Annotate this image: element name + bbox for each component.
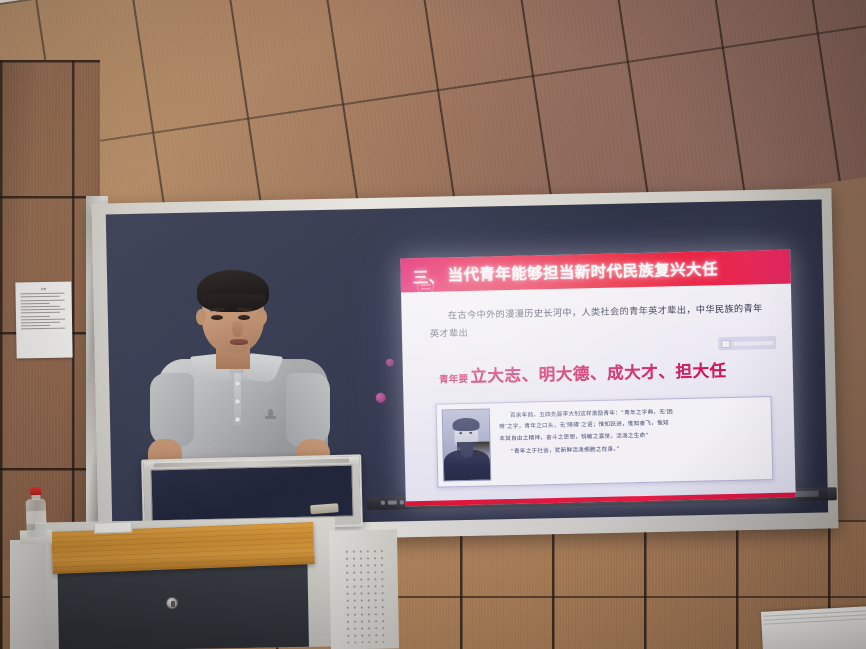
notice-line bbox=[21, 306, 60, 308]
notice-line bbox=[21, 303, 50, 304]
presenter-mouth bbox=[230, 339, 248, 345]
presenter-eye bbox=[211, 315, 223, 320]
quote-text-block: 百余年前，五四先驱李大钊这样激励青年：“青年之字典，无‘困 难’之字，青年之口头… bbox=[490, 402, 768, 480]
presenter-sleeve-left bbox=[150, 373, 194, 447]
bottle-cap bbox=[30, 487, 41, 495]
notice-line bbox=[21, 315, 50, 316]
magnet-dot bbox=[386, 358, 394, 366]
lecture-hall-photo: 公告 三、 当代青年能够担当新时代民族复兴大 bbox=[0, 0, 866, 649]
magnet-dot bbox=[376, 393, 386, 403]
presenter-eyebrow bbox=[237, 308, 252, 312]
presenter-eye bbox=[238, 315, 250, 320]
notice-title: 公告 bbox=[20, 287, 66, 292]
speaker-perforations bbox=[343, 548, 389, 644]
paper-stack bbox=[761, 606, 866, 649]
lectern-lock-icon[interactable] bbox=[166, 597, 178, 609]
notice-line bbox=[21, 296, 60, 298]
notice-line bbox=[21, 293, 65, 295]
watermark-icon bbox=[721, 339, 730, 347]
shirt-button bbox=[235, 381, 240, 386]
shirt-button bbox=[235, 399, 240, 404]
presenter-sleeve-right bbox=[286, 373, 330, 447]
shirt-logo-icon bbox=[264, 409, 277, 423]
presenter-ear bbox=[196, 309, 206, 325]
notice-line bbox=[21, 325, 50, 326]
portrait-eye bbox=[459, 432, 462, 434]
notice-line bbox=[21, 312, 60, 314]
watermark-text bbox=[733, 341, 773, 346]
presenter-nose bbox=[232, 321, 243, 337]
presenter-ear bbox=[257, 309, 267, 325]
notice-line bbox=[21, 309, 65, 311]
portrait-hair bbox=[452, 418, 479, 432]
slide-title-text: 当代青年能够担当新时代民族复兴大任 bbox=[447, 257, 718, 285]
bottle-label bbox=[26, 511, 46, 525]
lectern-name-card bbox=[94, 521, 132, 533]
notice-line bbox=[21, 322, 60, 324]
shirt-button bbox=[235, 417, 240, 422]
wall-notice-paper: 公告 bbox=[15, 282, 72, 359]
water-bottle bbox=[24, 487, 48, 538]
portrait-eye bbox=[469, 432, 472, 434]
highlight-prefix: 青年要 bbox=[439, 371, 469, 386]
highlight-main: 立大志、明大德、成大才、担大任 bbox=[470, 357, 727, 387]
li-dazhao-portrait bbox=[442, 408, 492, 481]
bottle-neck bbox=[31, 495, 40, 500]
speaker-grille-column bbox=[329, 529, 399, 649]
notice-line bbox=[21, 299, 65, 301]
notice-line bbox=[21, 318, 65, 320]
quote-card: 百余年前，五四先驱李大钊这样激励青年：“青年之字典，无‘困 难’之字，青年之口头… bbox=[436, 396, 774, 488]
slide-watermark-badge bbox=[718, 336, 776, 350]
lectern-side-panel bbox=[10, 540, 46, 649]
slide-highlight-line: 青年要 立大志、明大德、成大才、担大任 bbox=[439, 357, 727, 388]
presenter-hair bbox=[197, 270, 269, 312]
notice-line bbox=[21, 328, 65, 330]
seal-watermark-icon bbox=[417, 278, 434, 295]
presentation-slide[interactable]: 三、 当代青年能够担当新时代民族复兴大任 在古今中外的漫漫历史长河中，人类社会的… bbox=[400, 250, 796, 507]
